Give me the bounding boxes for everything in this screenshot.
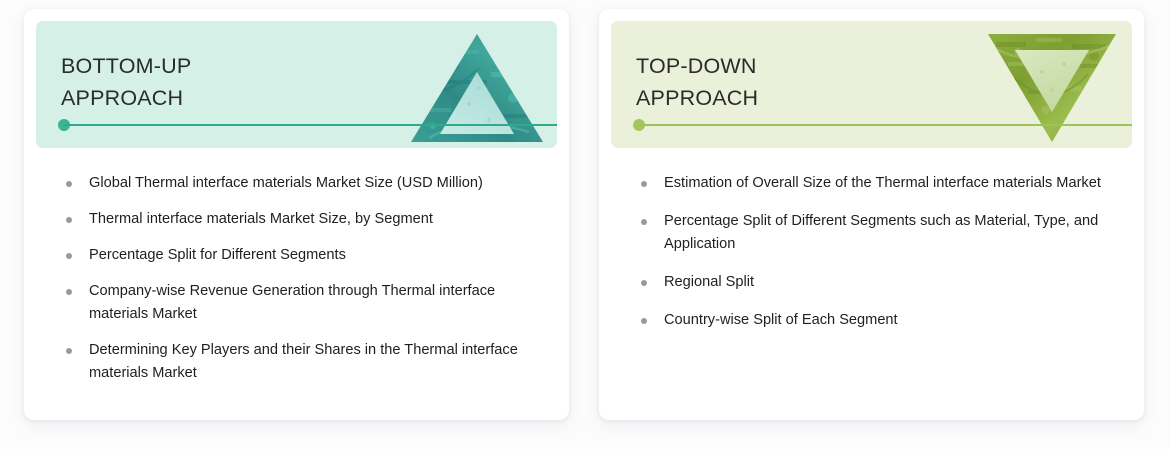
accent-rule-top-down <box>633 119 1132 131</box>
list-item-text: Determining Key Players and their Shares… <box>89 342 518 381</box>
bullet-dot-icon <box>641 318 647 324</box>
bullet-dot-icon <box>641 181 647 187</box>
approach-comparison: BOTTOM-UP APPROACH <box>0 0 1170 449</box>
list-item-text: Percentage Split of Different Segments s… <box>664 213 1098 252</box>
panel-title-top-down: TOP-DOWN APPROACH <box>636 50 758 114</box>
bullet-dot-icon <box>66 289 72 295</box>
list-item-text: Regional Split <box>664 274 754 290</box>
list-item-text: Percentage Split for Different Segments <box>89 247 346 263</box>
bullet-dot-icon <box>66 181 72 187</box>
panel-body-top-down: Estimation of Overall Size of the Therma… <box>611 148 1132 408</box>
panel-header-top-down: TOP-DOWN APPROACH <box>611 21 1132 148</box>
list-item: Thermal interface materials Market Size,… <box>58 208 539 231</box>
accent-line <box>639 124 1132 126</box>
list-item: Country-wise Split of Each Segment <box>633 309 1114 332</box>
list-item: Determining Key Players and their Shares… <box>58 339 539 385</box>
bullet-list-top-down: Estimation of Overall Size of the Therma… <box>633 172 1114 332</box>
list-item-text: Estimation of Overall Size of the Therma… <box>664 175 1101 191</box>
list-item-text: Thermal interface materials Market Size,… <box>89 211 433 227</box>
list-item-text: Company-wise Revenue Generation through … <box>89 283 495 322</box>
bullet-dot-icon <box>66 253 72 259</box>
panel-top-down: TOP-DOWN APPROACH <box>599 9 1144 420</box>
bullet-dot-icon <box>66 217 72 223</box>
bullet-dot-icon <box>641 280 647 286</box>
list-item: Regional Split <box>633 271 1114 294</box>
bullet-dot-icon <box>641 219 647 225</box>
list-item-text: Country-wise Split of Each Segment <box>664 312 898 328</box>
accent-line <box>64 124 557 126</box>
list-item: Percentage Split for Different Segments <box>58 244 539 267</box>
list-item-text: Global Thermal interface materials Marke… <box>89 175 483 191</box>
bullet-list-bottom-up: Global Thermal interface materials Marke… <box>58 172 539 385</box>
list-item: Global Thermal interface materials Marke… <box>58 172 539 195</box>
panel-body-bottom-up: Global Thermal interface materials Marke… <box>36 148 557 408</box>
panel-bottom-up: BOTTOM-UP APPROACH <box>24 9 569 420</box>
bullet-dot-icon <box>66 348 72 354</box>
list-item: Company-wise Revenue Generation through … <box>58 280 539 326</box>
panel-title-bottom-up: BOTTOM-UP APPROACH <box>61 50 191 114</box>
list-item: Percentage Split of Different Segments s… <box>633 210 1114 256</box>
panel-header-bottom-up: BOTTOM-UP APPROACH <box>36 21 557 148</box>
list-item: Estimation of Overall Size of the Therma… <box>633 172 1114 195</box>
accent-rule-bottom-up <box>58 119 557 131</box>
